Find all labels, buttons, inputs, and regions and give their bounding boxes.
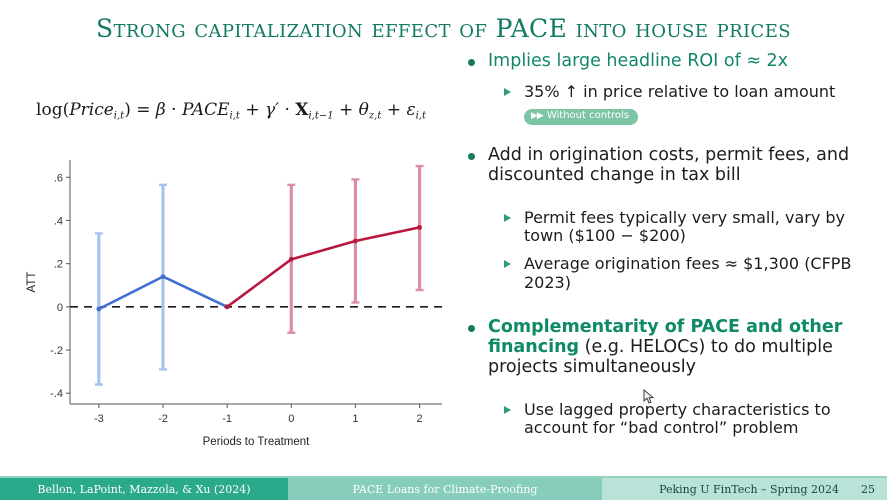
bullet-dot-icon — [468, 325, 475, 332]
equation-beta: β — [156, 100, 166, 120]
mouse-cursor-icon — [643, 389, 656, 404]
equation-lhs-close: ) — [124, 100, 131, 120]
bullet-lagged-controls-text: Use lagged property characteristics to a… — [524, 400, 831, 438]
spacer — [462, 188, 882, 209]
y-tick-label: .4 — [54, 215, 63, 227]
bullet-triangle-icon — [504, 88, 511, 96]
spacer — [462, 125, 882, 146]
x-tick-label: 1 — [352, 413, 358, 425]
equation-dot-2: · — [284, 100, 289, 120]
y-tick-label: -.2 — [50, 345, 63, 357]
equation-lhs-fn: log( — [36, 100, 69, 120]
bullet-dot-icon — [468, 153, 475, 160]
bullet-add-costs: Add in origination costs, permit fees, a… — [462, 146, 882, 186]
x-tick-label: -1 — [222, 413, 232, 425]
without-controls-badge[interactable]: ▶▶Without controls — [524, 109, 638, 125]
footer-topic: PACE Loans for Climate-Proofing — [288, 478, 602, 500]
series-line — [227, 227, 419, 306]
equation-x-sub: i,t−1 — [308, 111, 333, 122]
y-tick-label: -.4 — [50, 388, 63, 400]
x-tick-label: -3 — [94, 413, 104, 425]
spacer — [462, 380, 882, 401]
x-tick-label: 2 — [416, 413, 422, 425]
footer-topic-text: PACE Loans for Climate-Proofing — [353, 483, 538, 496]
x-tick-label: 0 — [288, 413, 294, 425]
equation-pace-var: PACE — [182, 100, 230, 120]
bullet-origination-fees-text: Average origination fees ≈ $1,300 (CFPB … — [524, 254, 851, 292]
y-tick-label: .6 — [54, 172, 63, 184]
bullet-roi: Implies large headline ROI of ≈ 2x — [462, 52, 882, 72]
bullet-price-uplift-text: 35% ↑ in price relative to loan amount — [524, 82, 835, 101]
equation-lhs-var: Price — [69, 100, 114, 120]
data-point — [225, 304, 230, 309]
footer: Bellon, LaPoint, Mazzola, & Xu (2024) PA… — [0, 478, 887, 500]
without-controls-badge-label: Without controls — [547, 110, 629, 121]
x-axis-label: Periods to Treatment — [203, 436, 311, 448]
footer-page-number: 25 — [861, 483, 875, 496]
equation-plus-1: + — [245, 100, 259, 120]
equation-epsilon: ε — [406, 100, 415, 120]
equation-theta: θ — [359, 100, 369, 120]
footer-authors: Bellon, LaPoint, Mazzola, & Xu (2024) — [0, 478, 288, 500]
equation-dot-1: · — [171, 100, 176, 120]
bullet-list: Implies large headline ROI of ≈ 2x 35% ↑… — [462, 52, 882, 438]
bullet-add-costs-text: Add in origination costs, permit fees, a… — [488, 145, 849, 185]
bullet-origination-fees: Average origination fees ≈ $1,300 (CFPB … — [462, 255, 882, 292]
data-point — [161, 274, 166, 279]
chart-svg: .6.4.20-.2-.4-3-2-1012Periods to Treatme… — [22, 152, 452, 452]
equation-epsilon-sub: i,t — [416, 111, 426, 122]
bullet-triangle-icon — [504, 260, 511, 268]
equation-lhs-sub: i,t — [114, 111, 124, 122]
x-tick-label: -2 — [158, 413, 168, 425]
fast-forward-icon: ▶▶ — [531, 111, 543, 121]
bullet-permit-fees-text: Permit fees typically very small, vary b… — [524, 208, 845, 246]
bullet-triangle-icon — [504, 214, 511, 222]
equation-gamma: γ′ — [265, 100, 279, 120]
bullet-price-uplift: 35% ↑ in price relative to loan amount ▶… — [462, 83, 882, 125]
bullet-triangle-icon — [504, 406, 511, 414]
footer-venue: Peking U FinTech – Spring 2024 25 — [602, 478, 887, 500]
equation-plus-2: + — [339, 100, 353, 120]
bullet-permit-fees: Permit fees typically very small, vary b… — [462, 209, 882, 246]
page-title: Strong capitalization effect of PACE int… — [0, 14, 887, 43]
footer-venue-text: Peking U FinTech – Spring 2024 — [659, 483, 839, 496]
bullet-roi-text: Implies large headline ROI of ≈ 2x — [488, 51, 788, 71]
spacer — [462, 292, 882, 318]
event-study-chart: .6.4.20-.2-.4-3-2-1012Periods to Treatme… — [22, 152, 452, 452]
equation-equals: = — [136, 100, 150, 120]
bullet-dot-icon — [468, 59, 475, 66]
equation-pace-sub: i,t — [230, 111, 240, 122]
equation-plus-3: + — [387, 100, 401, 120]
equation-x-vector: X — [295, 100, 308, 120]
data-point — [353, 239, 358, 244]
data-point — [289, 257, 294, 262]
regression-equation: log(Pricei,t) = β · PACEi,t + γ′ · Xi,t−… — [16, 100, 446, 122]
data-point — [417, 225, 422, 230]
y-tick-label: .2 — [54, 259, 63, 271]
y-axis-label: ATT — [26, 272, 38, 293]
bullet-complementarity: Complementarity of PACE and other financ… — [462, 318, 882, 378]
equation-theta-sub: z,t — [369, 111, 381, 122]
y-tick-label: 0 — [57, 302, 63, 314]
bullet-lagged-controls: Use lagged property characteristics to a… — [462, 401, 882, 438]
footer-authors-text: Bellon, LaPoint, Mazzola, & Xu (2024) — [37, 483, 250, 496]
data-point — [96, 307, 101, 312]
